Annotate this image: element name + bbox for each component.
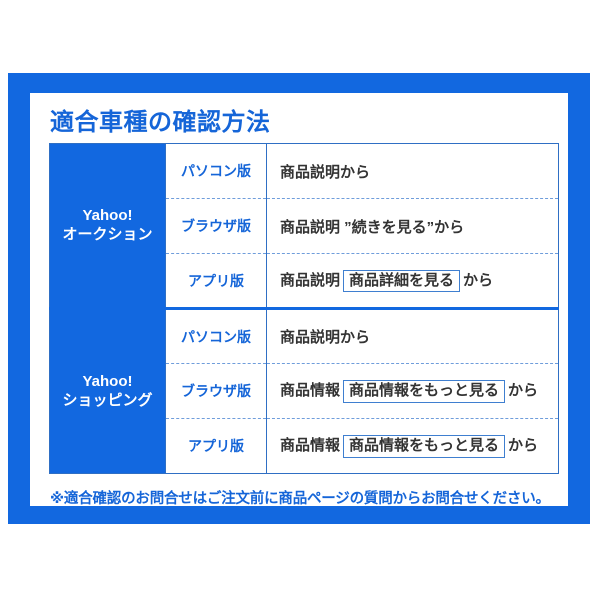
brand-line-1: Yahoo! (50, 207, 165, 226)
table-row: Yahoo! ショッピング パソコン版 商品説明から (50, 309, 559, 364)
boxed-action-label: 商品詳細を見る (343, 270, 460, 292)
brand-line-2: ショッピング (50, 392, 165, 411)
boxed-action-label: 商品情報をもっと見る (343, 380, 505, 402)
instruction-prefix: 商品説明 ”続きを見る”から (280, 219, 464, 236)
brand-line-2: オークション (50, 226, 165, 245)
platform-label: アプリ版 (166, 419, 267, 474)
brand-line-1: Yahoo! (50, 373, 165, 392)
instruction-cell: 商品説明 ”続きを見る”から (267, 199, 559, 254)
instruction-suffix: から (508, 437, 538, 454)
instruction-prefix: 商品情報 (280, 437, 340, 454)
compatibility-table: Yahoo! オークション パソコン版 商品説明から ブラウザ版 商品説明 ”続… (49, 143, 559, 474)
brand-cell-auction: Yahoo! オークション (50, 144, 166, 309)
brand-cell-shopping: Yahoo! ショッピング (50, 309, 166, 474)
platform-label: ブラウザ版 (166, 364, 267, 419)
instruction-prefix: 商品説明 (280, 272, 340, 289)
platform-label: ブラウザ版 (166, 199, 267, 254)
instruction-cell: 商品説明商品詳細を見るから (267, 254, 559, 309)
page-title: 適合車種の確認方法 (50, 111, 550, 135)
instruction-prefix: 商品情報 (280, 382, 340, 399)
platform-label: アプリ版 (166, 254, 267, 309)
instruction-cell: 商品説明から (267, 144, 559, 199)
card-inner: 適合車種の確認方法 Yahoo! オークション パソコン版 商品説明から (30, 93, 568, 506)
blue-frame-border: 適合車種の確認方法 Yahoo! オークション パソコン版 商品説明から (8, 73, 590, 524)
page-root: 適合車種の確認方法 Yahoo! オークション パソコン版 商品説明から (0, 0, 600, 600)
instruction-suffix: から (463, 272, 493, 289)
instruction-cell: 商品情報商品情報をもっと見るから (267, 364, 559, 419)
boxed-action-label: 商品情報をもっと見る (343, 435, 505, 457)
table-row: Yahoo! オークション パソコン版 商品説明から (50, 144, 559, 199)
platform-label: パソコン版 (166, 144, 267, 199)
footer-note: ※適合確認のお問合せはご注文前に商品ページの質問からお問合せください。 (50, 487, 550, 508)
instruction-prefix: 商品説明から (280, 329, 370, 346)
instruction-prefix: 商品説明から (280, 164, 370, 181)
platform-label: パソコン版 (166, 309, 267, 364)
instruction-cell: 商品情報商品情報をもっと見るから (267, 419, 559, 474)
instruction-cell: 商品説明から (267, 309, 559, 364)
instruction-suffix: から (508, 382, 538, 399)
